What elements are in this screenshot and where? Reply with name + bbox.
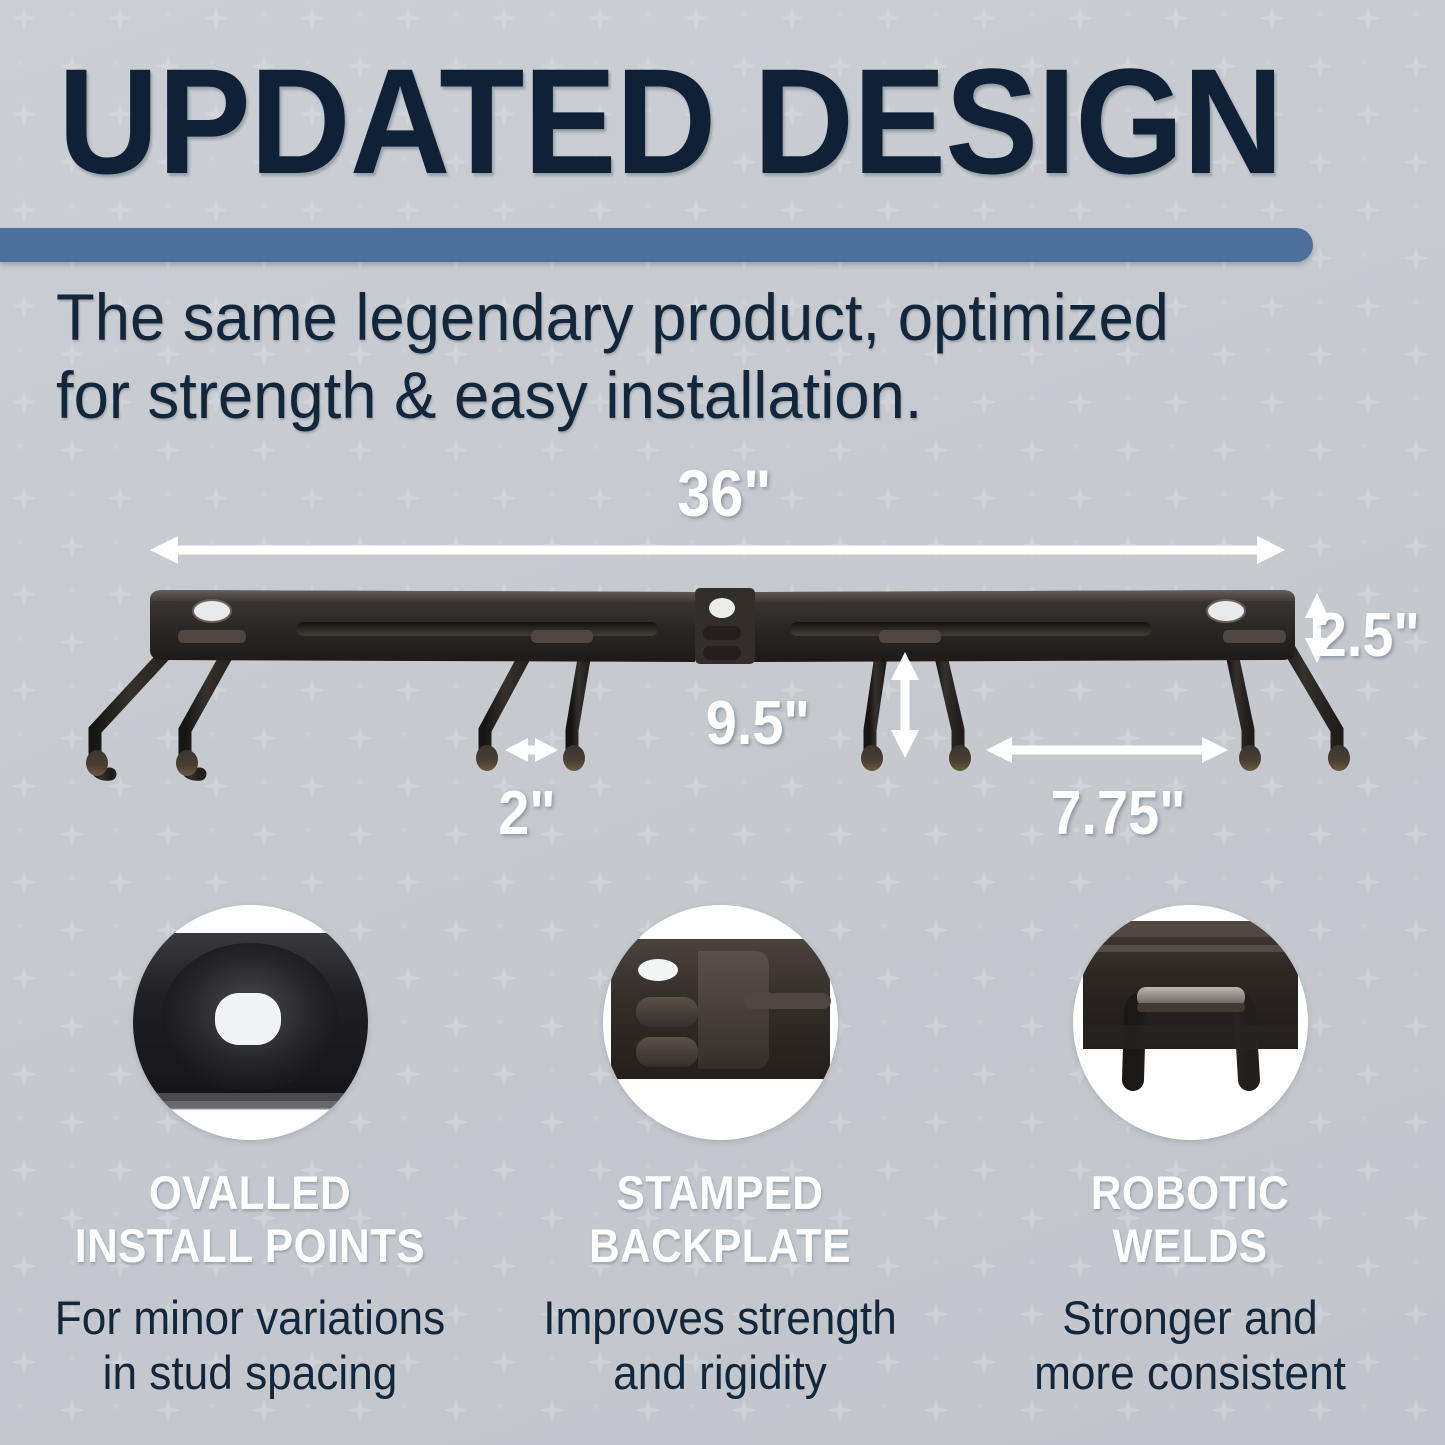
feature-title-line-2: BACKPLATE xyxy=(509,1219,932,1272)
weld-bead-shadow xyxy=(1137,1003,1245,1012)
feature-caption-robotic-welds: Stronger and more consistent xyxy=(969,1290,1411,1400)
feature-caption-line-1: Stronger and xyxy=(969,1290,1411,1345)
feature-highlights: OVALLED INSTALL POINTS For minor variati… xyxy=(0,905,1445,1445)
feature-title-line-2: WELDS xyxy=(979,1219,1402,1272)
feature-caption-line-1: For minor variations xyxy=(29,1290,471,1345)
subtitle-line-2: for strength & easy installation. xyxy=(56,356,1314,434)
subtitle-line-1: The same legendary product, optimized xyxy=(56,278,1314,356)
feature-stamped-backplate: STAMPED BACKPLATE Improves strength and … xyxy=(485,905,955,1400)
page-subtitle: The same legendary product, optimized fo… xyxy=(56,278,1314,434)
feature-title-robotic-welds: ROBOTIC WELDS xyxy=(979,1166,1402,1272)
dimension-arrow-2 xyxy=(505,738,558,762)
oval-mounting-hole xyxy=(638,959,678,981)
dimension-label-hook-depth: 9.5" xyxy=(706,688,810,759)
feature-title-line-1: OVALLED xyxy=(39,1166,462,1219)
dimension-arrow-7-75 xyxy=(986,737,1228,763)
feature-caption-stamped-backplate: Improves strength and rigidity xyxy=(499,1290,941,1400)
stamped-rib-upper xyxy=(636,997,698,1027)
rack-backplate xyxy=(150,588,1295,664)
dimension-arrow-9-5 xyxy=(891,652,919,758)
feature-image-stamped-backplate xyxy=(603,905,838,1140)
feature-ovalled-install-points: OVALLED INSTALL POINTS For minor variati… xyxy=(15,905,485,1400)
feature-image-robotic-welds xyxy=(1073,905,1308,1140)
dimension-label-hook-gap: 2" xyxy=(498,778,556,849)
dimension-label-width: 36" xyxy=(677,455,771,531)
feature-image-ovalled-install-points xyxy=(133,905,368,1140)
dimension-label-hook-spacing: 7.75" xyxy=(1051,778,1186,849)
stamped-rib-lower xyxy=(636,1037,698,1067)
backplate-panel-right xyxy=(752,590,1295,662)
feature-caption-line-2: in stud spacing xyxy=(29,1345,471,1400)
feature-caption-line-2: more consistent xyxy=(969,1345,1411,1400)
center-mounting-hole xyxy=(709,598,735,618)
title-accent-divider xyxy=(0,228,1313,262)
stamped-slot xyxy=(743,993,831,1009)
dimension-label-backplate-height: 2.5" xyxy=(1316,600,1420,671)
infographic-page: UPDATED DESIGN The same legendary produc… xyxy=(0,0,1445,1445)
feature-title-stamped-backplate: STAMPED BACKPLATE xyxy=(509,1166,932,1272)
backplate-center-splice xyxy=(695,588,755,664)
dimension-arrow-36 xyxy=(150,536,1285,564)
feature-title-line-2: INSTALL POINTS xyxy=(39,1219,462,1272)
feature-caption-line-2: and rigidity xyxy=(499,1345,941,1400)
feature-title-line-1: STAMPED xyxy=(509,1166,932,1219)
stamped-slot-left xyxy=(296,622,658,636)
feature-robotic-welds: ROBOTIC WELDS Stronger and more consiste… xyxy=(955,905,1425,1400)
center-slot-upper xyxy=(703,626,741,640)
stamped-slot-right xyxy=(790,622,1152,636)
feature-title-line-1: ROBOTIC xyxy=(979,1166,1402,1219)
center-slot-lower xyxy=(703,646,741,660)
feature-caption-ovalled-install-points: For minor variations in stud spacing xyxy=(29,1290,471,1400)
stamped-boss xyxy=(698,951,769,1069)
feature-caption-line-1: Improves strength xyxy=(499,1290,941,1345)
feature-title-ovalled-install-points: OVALLED INSTALL POINTS xyxy=(39,1166,462,1272)
backplate-panel-left xyxy=(150,590,695,662)
page-title: UPDATED DESIGN xyxy=(58,46,1314,196)
oval-mounting-hole xyxy=(215,993,281,1045)
